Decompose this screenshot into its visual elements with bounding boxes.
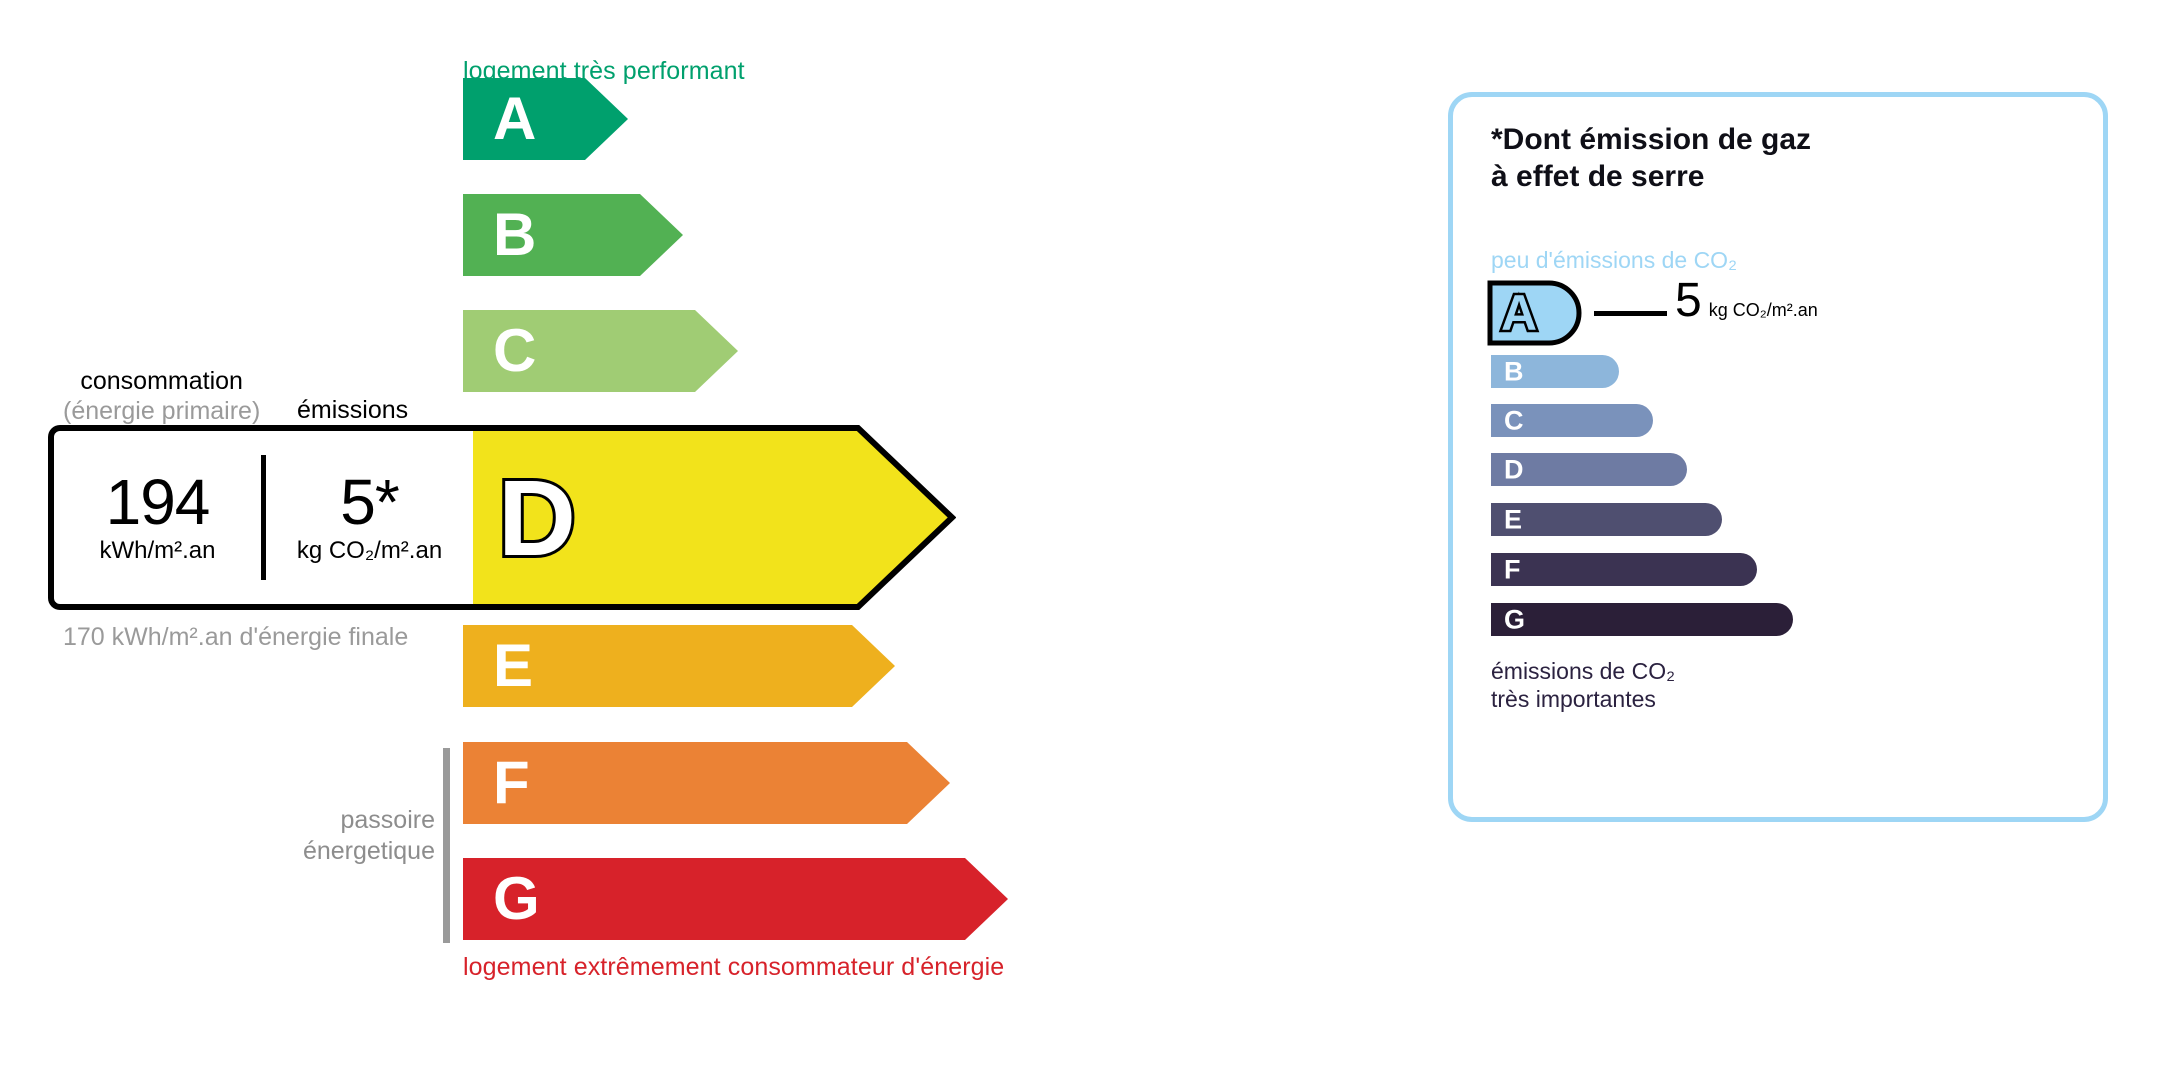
- co2-bar-a-selected: A: [1487, 280, 1585, 346]
- label-emissions: émissions: [297, 396, 408, 426]
- energy-bar-g-letter: G: [493, 869, 540, 929]
- co2-bar-d-letter: D: [1504, 456, 1524, 483]
- primary-energy-value: 194: [106, 470, 210, 535]
- energy-bar-b-tip: [640, 194, 683, 276]
- energy-bar-f-tip: [907, 742, 950, 824]
- energy-bar-e-letter: E: [493, 636, 533, 696]
- energy-bar-f: F: [463, 742, 950, 824]
- co2-bar-g-body: [1491, 603, 1793, 636]
- energy-bar-f-letter: F: [493, 753, 530, 813]
- co2-panel-title: *Dont émission de gaz à effet de serre: [1491, 122, 1811, 195]
- co2-leader-line: [1594, 311, 1667, 316]
- label-consommation-sub: (énergie primaire): [63, 397, 260, 427]
- co2-bar-b-letter: B: [1504, 358, 1524, 385]
- energy-bar-a: A: [463, 78, 628, 160]
- energy-bar-g-tip: [965, 858, 1008, 940]
- co2-bar-f-letter: F: [1504, 556, 1521, 583]
- energy-bar-c-tip: [695, 310, 738, 392]
- energy-bar-a-letter: A: [493, 89, 536, 149]
- co2-bar-d: D: [1491, 453, 1687, 486]
- energy-performance-panel: logement très performant A B C: [0, 0, 1400, 1079]
- co2-value-group: 5 kg CO₂/m².an: [1675, 277, 1818, 325]
- energy-bar-b-body: [463, 194, 640, 276]
- primary-energy-cell: 194 kWh/m².an: [54, 470, 261, 565]
- energy-bar-e-tip: [852, 625, 895, 707]
- energy-bar-a-tip: [585, 78, 628, 160]
- co2-bar-c-letter: C: [1504, 407, 1524, 434]
- co2-top-caption: peu d'émissions de CO₂: [1491, 247, 1737, 274]
- emission-value: 5*: [340, 470, 399, 535]
- co2-unit: kg CO₂/m².an: [1709, 300, 1818, 321]
- energy-bar-c-letter: C: [493, 321, 536, 381]
- passoire-energetique-label: passoire énergetique: [250, 805, 435, 866]
- co2-bar-e-body: [1491, 503, 1722, 536]
- co2-bottom-caption: émissions de CO₂ très importantes: [1491, 657, 1675, 713]
- dpe-diagram: logement très performant A B C: [0, 0, 2169, 1079]
- co2-bar-e-letter: E: [1504, 506, 1522, 533]
- final-energy-note: 170 kWh/m².an d'énergie finale: [63, 622, 408, 653]
- label-consommation-main: consommation: [80, 367, 243, 395]
- passoire-bracket: [443, 748, 450, 943]
- co2-bar-f: F: [1491, 553, 1757, 586]
- energy-bar-c: C: [463, 310, 738, 392]
- co2-bar-a-letter: A: [1501, 288, 1537, 338]
- primary-energy-unit: kWh/m².an: [99, 537, 215, 565]
- co2-bar-g: G: [1491, 603, 1793, 636]
- label-consommation: consommation (énergie primaire): [63, 367, 260, 426]
- co2-bar-b: B: [1491, 355, 1619, 388]
- energy-bar-b-letter: B: [493, 205, 536, 265]
- co2-bar-e: E: [1491, 503, 1722, 536]
- energy-bottom-caption: logement extrêmement consommateur d'éner…: [463, 953, 1004, 982]
- energy-bar-g: G: [463, 858, 1008, 940]
- co2-panel: *Dont émission de gaz à effet de serre p…: [1448, 92, 2108, 822]
- co2-value: 5: [1675, 277, 1702, 325]
- emission-cell: 5* kg CO₂/m².an: [266, 470, 473, 565]
- co2-bar-f-body: [1491, 553, 1757, 586]
- co2-bar-g-letter: G: [1504, 606, 1525, 633]
- co2-bar-c: C: [1491, 404, 1653, 437]
- energy-value-box: 194 kWh/m².an 5* kg CO₂/m².an: [48, 425, 473, 610]
- energy-bar-d-selected: D: [463, 425, 956, 610]
- energy-bar-e: E: [463, 625, 895, 707]
- energy-bar-b: B: [463, 194, 683, 276]
- emission-unit: kg CO₂/m².an: [297, 537, 442, 565]
